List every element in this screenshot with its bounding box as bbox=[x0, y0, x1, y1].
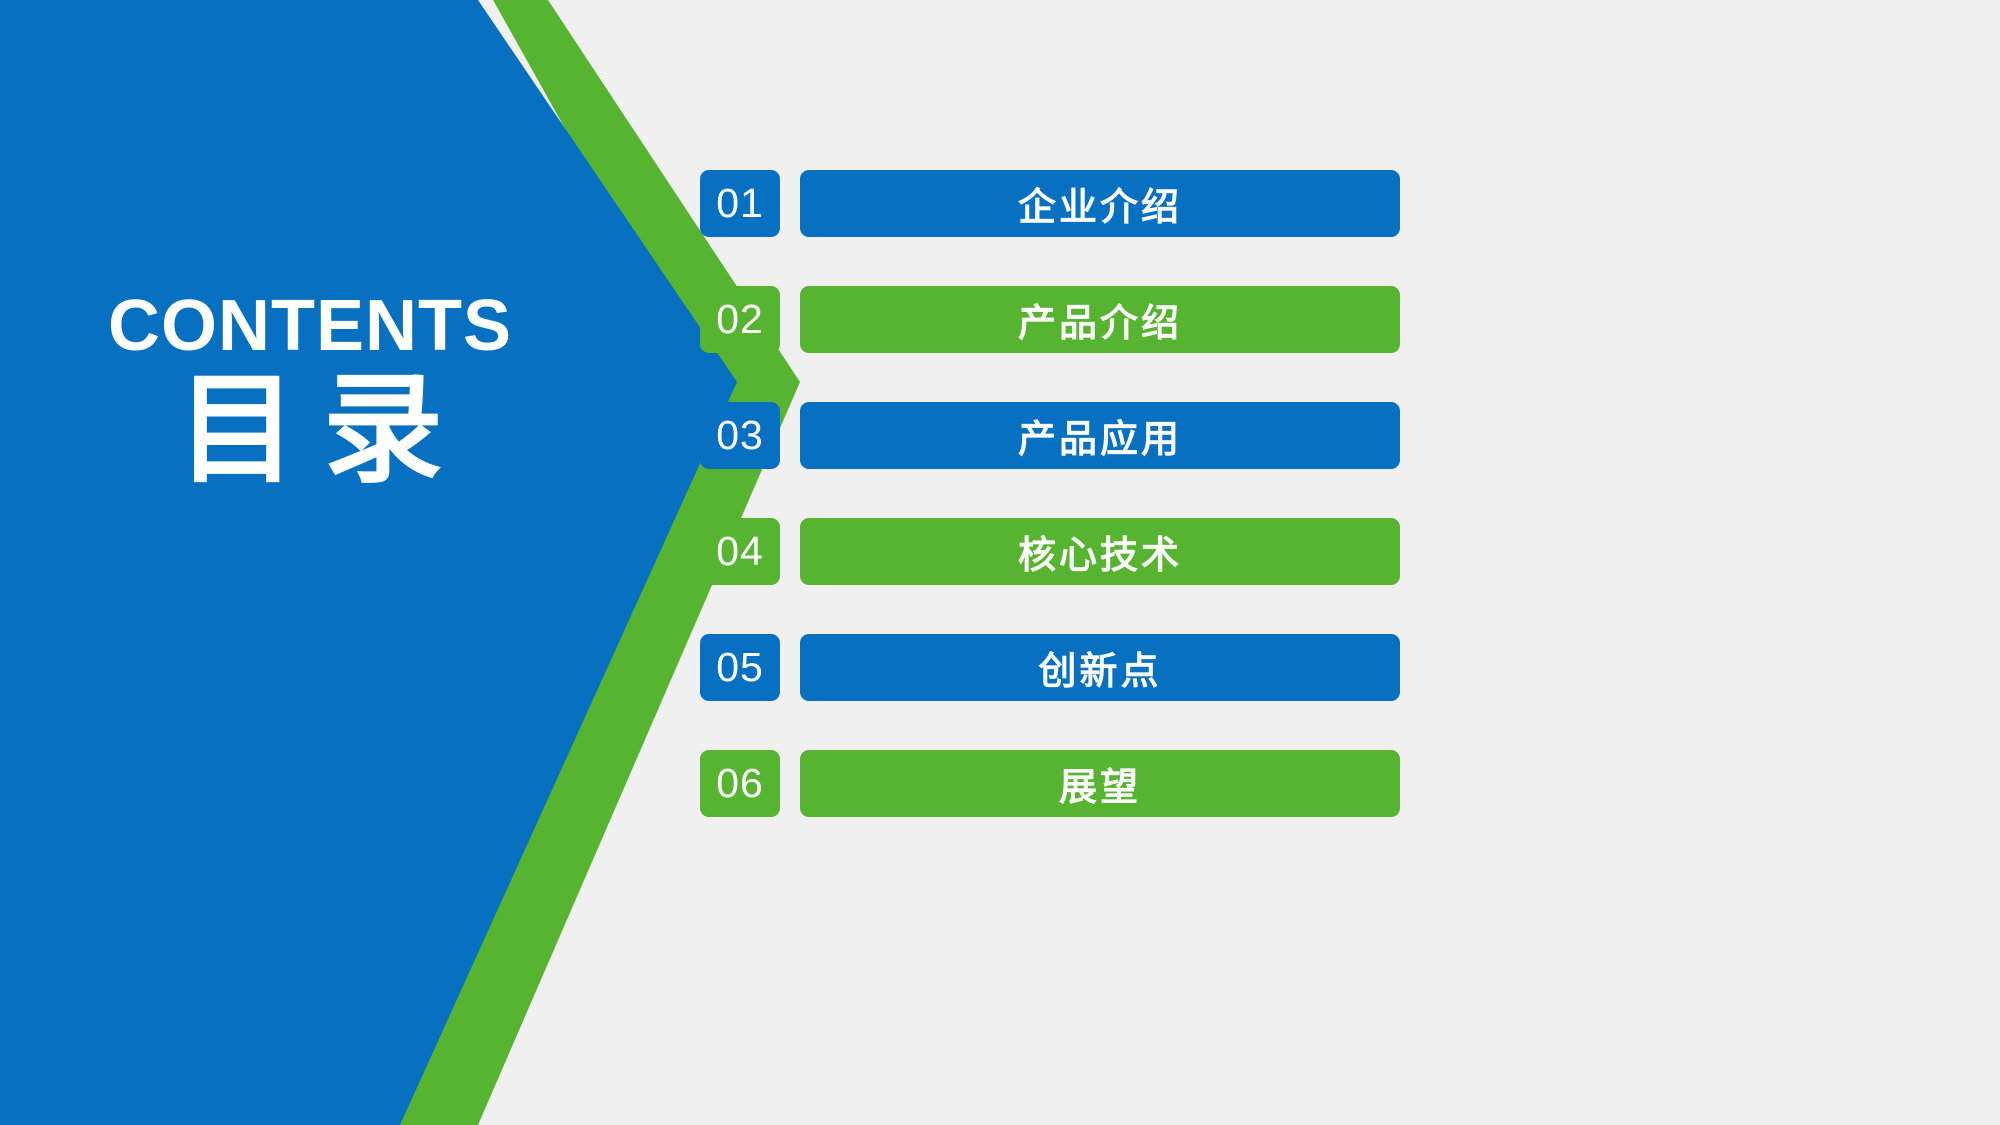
contents-item-02[interactable]: 02 产品介绍 bbox=[700, 286, 1400, 353]
contents-item-number-06[interactable]: 06 bbox=[700, 750, 780, 817]
contents-item-01[interactable]: 01 企业介绍 bbox=[700, 170, 1400, 237]
contents-item-label-04[interactable]: 核心技术 bbox=[800, 518, 1400, 585]
contents-item-04[interactable]: 04 核心技术 bbox=[700, 518, 1400, 585]
contents-item-number-05[interactable]: 05 bbox=[700, 634, 780, 701]
contents-item-number-04[interactable]: 04 bbox=[700, 518, 780, 585]
contents-list: 01 企业介绍 02 产品介绍 03 产品应用 04 核心技术 05 创新点 0… bbox=[700, 170, 1400, 817]
contents-item-label-03[interactable]: 产品应用 bbox=[800, 402, 1400, 469]
contents-item-number-01[interactable]: 01 bbox=[700, 170, 780, 237]
contents-item-label-05[interactable]: 创新点 bbox=[800, 634, 1400, 701]
contents-item-label-02[interactable]: 产品介绍 bbox=[800, 286, 1400, 353]
contents-item-05[interactable]: 05 创新点 bbox=[700, 634, 1400, 701]
contents-item-06[interactable]: 06 展望 bbox=[700, 750, 1400, 817]
contents-item-label-06[interactable]: 展望 bbox=[800, 750, 1400, 817]
contents-slide: CONTENTS 目录 01 企业介绍 02 产品介绍 03 产品应用 04 核… bbox=[0, 0, 2000, 1125]
contents-item-number-03[interactable]: 03 bbox=[700, 402, 780, 469]
contents-item-label-01[interactable]: 企业介绍 bbox=[800, 170, 1400, 237]
contents-item-number-02[interactable]: 02 bbox=[700, 286, 780, 353]
contents-item-03[interactable]: 03 产品应用 bbox=[700, 402, 1400, 469]
